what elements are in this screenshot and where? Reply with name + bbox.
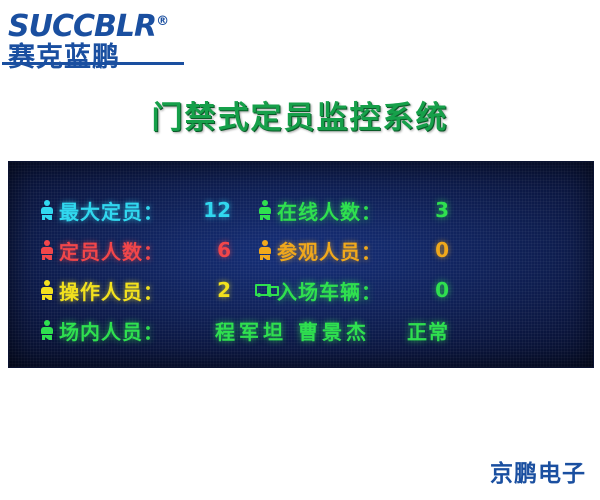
max-capacity-value: 12 <box>177 198 235 222</box>
staff-quota-label: 定员人数： <box>59 236 177 265</box>
status-badge: 正常 <box>407 316 453 345</box>
person-icon <box>37 279 57 301</box>
online-count-value: 3 <box>395 198 453 222</box>
staff-quota-value: 6 <box>177 238 235 262</box>
led-data-grid: 最大定员： 12 在线人数： 3 定员人数： 6 参观人员： 0 操作人员： 2… <box>37 190 567 350</box>
truck-icon <box>255 279 275 301</box>
page-title: 门禁式定员监控系统 <box>0 92 600 137</box>
vehicles-entered-label: 入场车辆： <box>277 276 395 305</box>
online-count-label: 在线人数： <box>277 196 395 225</box>
person-icon <box>255 239 275 261</box>
footer-company-name: 京鹏电子 <box>490 454 586 488</box>
person-icon <box>255 199 275 221</box>
registered-trademark-icon: ® <box>156 14 169 29</box>
logo-underline-divider <box>2 62 184 65</box>
onsite-personnel-label: 场内人员： <box>59 316 177 345</box>
logo-chinese-text: 赛克蓝鹏 <box>8 43 238 73</box>
logo-english-text: SUCCBLR® <box>8 6 238 43</box>
person-icon <box>37 199 57 221</box>
person-icon <box>37 239 57 261</box>
max-capacity-label: 最大定员： <box>59 196 177 225</box>
visitor-count-label: 参观人员： <box>277 236 395 265</box>
operator-count-label: 操作人员： <box>59 276 177 305</box>
operator-count-value: 2 <box>177 278 235 302</box>
onsite-personnel-row: 场内人员： 程军坦 曹景杰 正常 <box>59 316 453 345</box>
person-icon <box>37 319 57 341</box>
vehicles-entered-value: 0 <box>395 278 453 302</box>
visitor-count-value: 0 <box>395 238 453 262</box>
onsite-personnel-names: 程军坦 曹景杰 <box>177 316 407 345</box>
led-display-panel: 最大定员： 12 在线人数： 3 定员人数： 6 参观人员： 0 操作人员： 2… <box>8 161 594 368</box>
